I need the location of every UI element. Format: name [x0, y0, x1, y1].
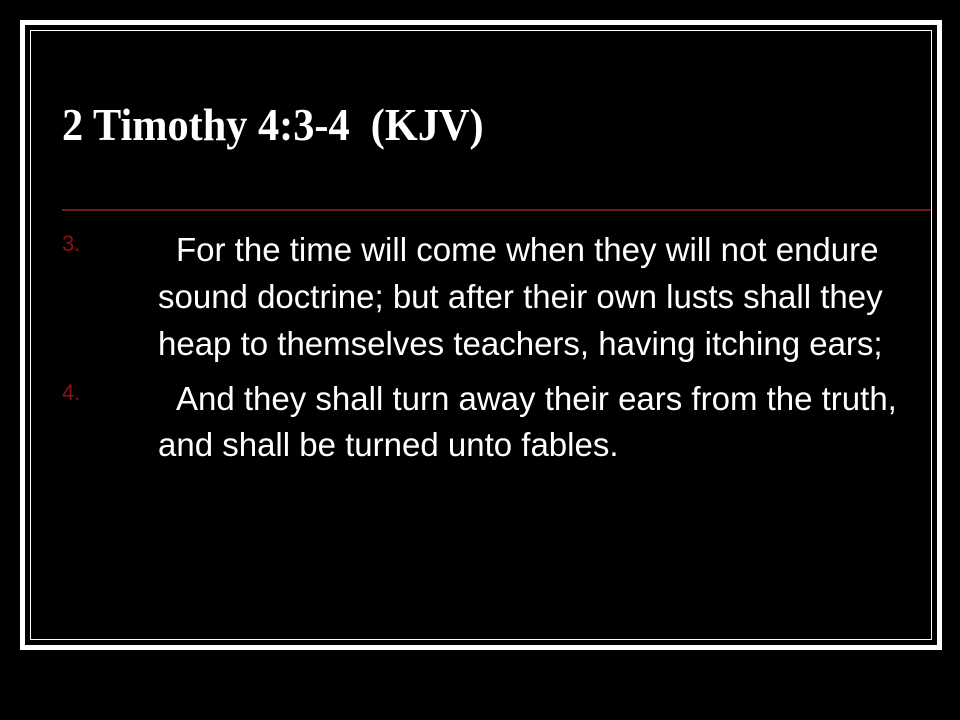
list-item: 4. And they shall turn away their ears f… [62, 376, 931, 470]
scripture-verse-list: 3. For the time will come when they will… [62, 227, 931, 469]
title-divider-rule [62, 209, 931, 211]
presentation-slide: 2 Timothy 4:3-4 (KJV) 3. For the time wi… [0, 0, 960, 720]
slide-content-area: 2 Timothy 4:3-4 (KJV) 3. For the time wi… [31, 31, 931, 639]
list-item-text: For the time will come when they will no… [158, 231, 883, 362]
list-item: 3. For the time will come when they will… [62, 227, 931, 368]
page-title: 2 Timothy 4:3-4 (KJV) [62, 101, 876, 149]
list-item-marker: 3. [62, 233, 120, 255]
list-item-text: And they shall turn away their ears from… [158, 380, 897, 464]
list-item-marker: 4. [62, 382, 120, 404]
slide-title-block: 2 Timothy 4:3-4 (KJV) [62, 101, 931, 149]
